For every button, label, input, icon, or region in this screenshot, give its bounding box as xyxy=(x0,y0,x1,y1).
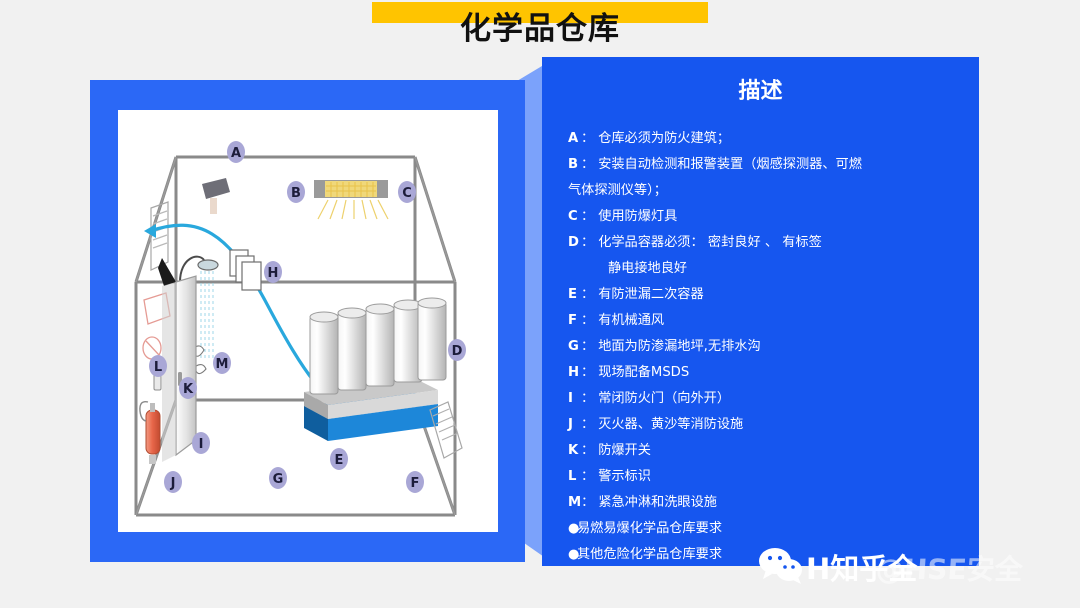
description-item-key: A xyxy=(568,126,581,152)
description-item-text: 常闭防火门（向外开） xyxy=(598,386,968,412)
description-item-key: I xyxy=(568,386,581,412)
description-item-colon: ： xyxy=(581,464,598,490)
drum xyxy=(338,308,366,390)
description-item-colon: ： xyxy=(581,282,598,308)
description-item-colon: ： xyxy=(581,438,598,464)
drum xyxy=(310,312,338,394)
description-item-colon: ： xyxy=(581,126,598,152)
description-item-a: A：仓库必须为防火建筑； xyxy=(568,126,968,152)
description-item-i: I：常闭防火门（向外开） xyxy=(568,386,968,412)
warehouse-isometric-svg: ABCDEFGHIJKLM xyxy=(118,110,498,532)
description-item-text: 有机械通风 xyxy=(598,308,968,334)
marker-label: F xyxy=(411,476,420,491)
diagram-marker-c[interactable]: C xyxy=(398,181,416,203)
description-item-b: B：安装自动检测和报警装置（烟感探测器、可燃 xyxy=(568,152,968,178)
description-item-colon: ： xyxy=(581,490,598,516)
description-item-j: J：灭火器、黄沙等消防设施 xyxy=(568,412,968,438)
marker-label: K xyxy=(183,382,194,397)
description-item-e: E：有防泄漏二次容器 xyxy=(568,282,968,308)
diagram-marker-a[interactable]: A xyxy=(227,141,245,163)
diagram-marker-b[interactable]: B xyxy=(287,181,305,203)
marker-label: I xyxy=(199,437,204,452)
marker-label: D xyxy=(452,344,463,359)
description-item-text: 防爆开关 xyxy=(598,438,968,464)
bullet-dot-icon: ● xyxy=(568,516,577,542)
description-item-key: B xyxy=(568,152,581,178)
description-item-key: K xyxy=(568,438,581,464)
diagram-marker-f[interactable]: F xyxy=(406,471,424,493)
description-item-text: 灭火器、黄沙等消防设施 xyxy=(598,412,968,438)
diagram-marker-h[interactable]: H xyxy=(264,261,282,283)
description-item-m: M：紧急冲淋和洗眼设施 xyxy=(568,490,968,516)
bullet-dot-icon: ● xyxy=(568,542,577,568)
description-list: A：仓库必须为防火建筑；B：安装自动检测和报警装置（烟感探测器、可燃气体探测仪等… xyxy=(568,126,968,568)
marker-label: C xyxy=(402,186,412,201)
description-item-key: D xyxy=(568,230,581,256)
page-title: 化学品仓库 xyxy=(372,2,708,48)
explosion-proof-light-icon xyxy=(314,180,388,219)
description-bullet-text: 其他危险化学品仓库要求 xyxy=(577,542,722,568)
description-item-colon: ： xyxy=(581,230,598,256)
description-item-text: 使用防爆灯具 xyxy=(598,204,968,230)
description-bullet-text: 易燃易爆化学品仓库要求 xyxy=(577,516,722,542)
diagram-marker-e[interactable]: E xyxy=(330,448,348,470)
description-item-text: 警示标识 xyxy=(598,464,968,490)
diagram-panel: ABCDEFGHIJKLM xyxy=(90,80,525,562)
fire-door-icon xyxy=(162,276,196,462)
description-item-k: K：防爆开关 xyxy=(568,438,968,464)
description-item-key: J xyxy=(568,412,581,438)
chemical-drums-group xyxy=(310,298,446,394)
description-item-key: G xyxy=(568,334,581,360)
description-item-colon: ： xyxy=(581,204,598,230)
description-item-key: C xyxy=(568,204,581,230)
description-item-colon: ： xyxy=(581,386,598,412)
description-item-l: L：警示标识 xyxy=(568,464,968,490)
diagram-marker-k[interactable]: K xyxy=(179,377,197,399)
description-item-key: E xyxy=(568,282,581,308)
diagram-marker-l[interactable]: L xyxy=(149,355,167,377)
description-item-d: D：化学品容器必须： 密封良好 、 有标签 xyxy=(568,230,968,256)
description-item-text: 有防泄漏二次容器 xyxy=(598,282,968,308)
marker-label: L xyxy=(154,360,162,375)
description-item-key: F xyxy=(568,308,581,334)
slide-canvas: 化学品仓库 xyxy=(0,0,1080,608)
description-item-g: G：地面为防渗漏地坪,无排水沟 xyxy=(568,334,968,360)
diagram-marker-m[interactable]: M xyxy=(213,352,231,374)
description-continuation-line: 气体探测仪等）； xyxy=(568,178,968,204)
drum xyxy=(366,304,394,386)
description-bullet[interactable]: ●其他危险化学品仓库要求 xyxy=(568,542,968,568)
marker-label: J xyxy=(170,476,176,491)
diagram-canvas: ABCDEFGHIJKLM xyxy=(118,110,498,532)
description-item-colon: ： xyxy=(581,360,598,386)
marker-label: A xyxy=(231,146,241,161)
description-continuation-line: 静电接地良好 xyxy=(568,256,968,282)
drum xyxy=(418,298,446,380)
marker-label: H xyxy=(268,266,279,281)
description-item-text: 地面为防渗漏地坪,无排水沟 xyxy=(598,334,968,360)
marker-label: M xyxy=(216,357,229,372)
marker-label: B xyxy=(291,186,301,201)
description-bullet[interactable]: ●易燃易爆化学品仓库要求 xyxy=(568,516,968,542)
marker-label: E xyxy=(335,453,344,468)
description-item-text: 紧急冲淋和洗眼设施 xyxy=(598,490,968,516)
msds-documents-icon xyxy=(230,250,261,290)
description-title: 描述 xyxy=(542,73,979,105)
description-item-f: F：有机械通风 xyxy=(568,308,968,334)
diagram-marker-j[interactable]: J xyxy=(164,471,182,493)
description-item-text: 现场配备MSDS xyxy=(598,360,968,386)
diagram-marker-d[interactable]: D xyxy=(448,339,466,361)
description-item-h: H：现场配备MSDS xyxy=(568,360,968,386)
description-item-colon: ： xyxy=(581,308,598,334)
smoke-detector-icon xyxy=(202,178,230,214)
description-item-key: L xyxy=(568,464,581,490)
description-item-colon: ： xyxy=(581,152,598,178)
description-item-key: H xyxy=(568,360,581,386)
description-item-text: 安装自动检测和报警装置（烟感探测器、可燃 xyxy=(598,152,968,178)
marker-label: G xyxy=(273,472,284,487)
description-item-colon: ： xyxy=(581,412,598,438)
diagram-marker-i[interactable]: I xyxy=(192,432,210,454)
diagram-marker-g[interactable]: G xyxy=(269,467,287,489)
description-panel: 描述 A：仓库必须为防火建筑；B：安装自动检测和报警装置（烟感探测器、可燃气体探… xyxy=(542,57,979,566)
description-item-key: M xyxy=(568,490,581,516)
description-item-colon: ： xyxy=(581,334,598,360)
description-item-text: 化学品容器必须： 密封良好 、 有标签 xyxy=(598,230,968,256)
description-item-text: 仓库必须为防火建筑； xyxy=(598,126,968,152)
description-item-c: C：使用防爆灯具 xyxy=(568,204,968,230)
